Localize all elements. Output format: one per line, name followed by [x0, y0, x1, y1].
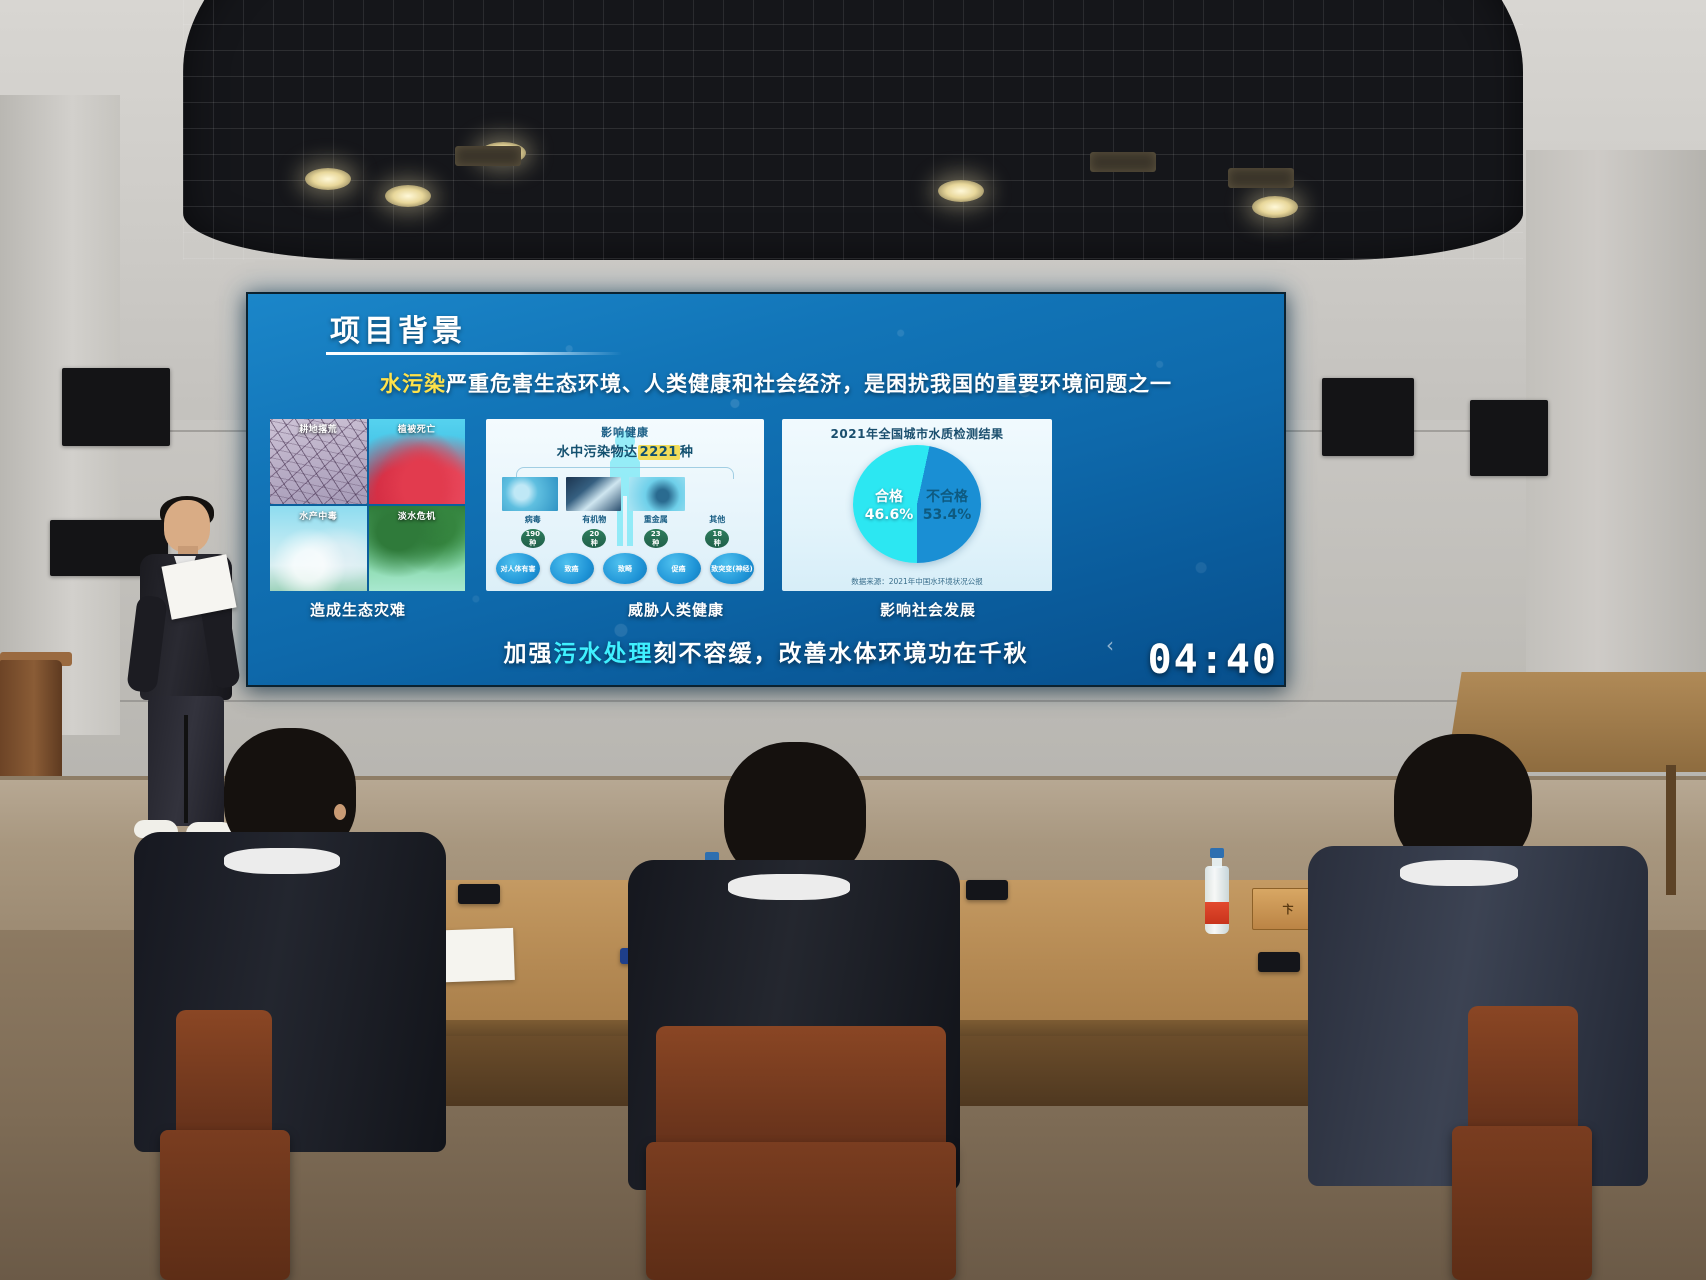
panel-heading: 影响健康 — [486, 424, 764, 440]
count-badge: 18 种 — [705, 529, 729, 548]
caption-society: 影响社会发展 — [880, 599, 976, 620]
sub-suffix: 种 — [680, 445, 694, 460]
panel-subheading: 水中污染物达2221种 — [486, 441, 764, 460]
chair-back — [656, 1026, 946, 1154]
count-value: 18 — [712, 530, 722, 539]
headline-rest: 严重危害生态环境、人类健康和社会经济，是困扰我国的重要环境问题之一 — [446, 372, 1172, 396]
count-unit: 种 — [714, 539, 721, 548]
photo-grid: 耕地撂荒 植被死亡 水产中毒 淡水危机 — [270, 419, 465, 591]
thumb-metal — [629, 477, 685, 511]
footer-part-b: 污水处理 — [554, 641, 654, 667]
chair — [1452, 1126, 1592, 1280]
section-captions: 造成生态灾难 威胁人类健康 影响社会发展 — [248, 599, 1284, 621]
effect-pill: 对人体有害 — [496, 553, 540, 584]
acoustic-panel — [1470, 400, 1548, 476]
phone-on-table — [458, 884, 500, 904]
photo-tile: 耕地撂荒 — [270, 419, 367, 504]
audience-collar — [1400, 860, 1518, 886]
effect-pill: 致癌 — [550, 553, 594, 584]
thumb-organic — [566, 477, 622, 511]
category-label: 重金属 — [625, 514, 687, 525]
countdown-timer: 04:40 — [1148, 637, 1278, 683]
chevron-left-icon[interactable]: ‹ — [1106, 633, 1114, 657]
presenter-head — [164, 500, 210, 552]
chair — [160, 1130, 290, 1280]
count-value: 23 — [651, 530, 661, 539]
photo-tile: 水产中毒 — [270, 506, 367, 591]
caption-health: 威胁人类健康 — [628, 599, 724, 620]
count-unit: 种 — [529, 539, 536, 548]
pie-chart-source: 数据来源：2021年中国水环境状况公报 — [782, 576, 1052, 587]
phone-on-table — [966, 880, 1008, 900]
ceiling-panel — [1228, 168, 1294, 188]
thumb-virus — [502, 477, 558, 511]
ceiling-light — [305, 168, 351, 190]
count-badge: 23 种 — [644, 529, 668, 548]
caption-ecology: 造成生态灾难 — [310, 599, 406, 620]
footer-part-c: 刻不容缓，改善水体环境功在千秋 — [654, 641, 1029, 667]
count-unit: 种 — [652, 539, 659, 548]
category-label: 有机物 — [564, 514, 626, 525]
category-counts: 190 种 20 种 23 种 18 种 — [502, 529, 748, 548]
count-badge: 190 种 — [521, 529, 545, 548]
audience-collar — [224, 848, 340, 874]
effect-pill: 促癌 — [657, 553, 701, 584]
photo-tile: 植被死亡 — [369, 419, 466, 504]
slide-headline: 水污染严重危害生态环境、人类健康和社会经济，是困扰我国的重要环境问题之一 — [296, 368, 1256, 398]
effect-pill: 致突变(神经) — [710, 553, 754, 584]
pie-chart-title: 2021年全国城市水质检测结果 — [782, 425, 1052, 442]
chair-back — [1468, 1006, 1578, 1136]
count-badge: 20 种 — [582, 529, 606, 548]
chair — [646, 1142, 956, 1280]
category-labels: 病毒 有机物 重金属 其他 — [502, 514, 748, 525]
acoustic-panel — [62, 368, 170, 446]
title-underline — [326, 352, 622, 355]
photo-label: 植被死亡 — [369, 422, 466, 435]
water-bottle — [1205, 848, 1229, 934]
pie-slice-pass-value: 46.6% — [861, 507, 917, 525]
slide: 项目背景 水污染严重危害生态环境、人类健康和社会经济，是困扰我国的重要环境问题之… — [248, 294, 1284, 685]
pollutant-count: 2221 — [638, 445, 680, 460]
audience-ear — [334, 804, 346, 820]
count-value: 190 — [525, 530, 540, 539]
health-impact-panel: 影响健康 水中污染物达2221种 病毒 有机物 重金属 其他 — [486, 419, 764, 591]
slide-title: 项目背景 — [330, 306, 466, 350]
ceiling-light — [1252, 196, 1298, 218]
photo-label: 水产中毒 — [270, 509, 367, 522]
category-label: 其他 — [687, 514, 749, 525]
ceiling-light — [938, 180, 984, 202]
ceiling-grid — [0, 0, 1706, 300]
led-presentation-screen[interactable]: 项目背景 水污染严重危害生态环境、人类健康和社会经济，是困扰我国的重要环境问题之… — [246, 292, 1286, 687]
ceiling-panel — [1090, 152, 1156, 172]
effect-pill: 致畸 — [603, 553, 647, 584]
pie-slice-fail-value: 53.4% — [917, 507, 977, 525]
pie-slice-pass: 合格 46.6% — [861, 489, 917, 524]
phone-on-table — [1258, 952, 1300, 972]
ceiling-panel — [455, 146, 521, 166]
pie-slice-fail-label: 不合格 — [917, 489, 977, 507]
category-label: 病毒 — [502, 514, 564, 525]
thumb-other — [693, 477, 749, 511]
pie-chart: 合格 46.6% 不合格 53.4% — [853, 445, 981, 563]
audience-collar — [728, 874, 850, 900]
headline-accent: 水污染 — [380, 372, 446, 396]
photo-tile: 淡水危机 — [369, 506, 466, 591]
category-thumbnails — [502, 477, 748, 513]
ceiling-light — [385, 185, 431, 207]
pie-slice-pass-label: 合格 — [861, 489, 917, 507]
sub-prefix: 水中污染物达 — [557, 445, 638, 460]
count-value: 20 — [589, 530, 599, 539]
slide-footer-line: 加强污水处理刻不容缓，改善水体环境功在千秋 — [248, 634, 1284, 668]
footer-part-a: 加强 — [504, 641, 554, 667]
photo-label: 淡水危机 — [369, 509, 466, 522]
acoustic-panel — [1322, 378, 1414, 456]
water-quality-pie-panel: 2021年全国城市水质检测结果 合格 46.6% 不合格 53.4% 数据来源：… — [782, 419, 1052, 591]
pie-slice-fail: 不合格 53.4% — [917, 489, 977, 524]
side-table-leg — [1666, 765, 1676, 895]
effect-pills: 对人体有害 致癌 致畸 促癌 致突变(神经) — [496, 553, 754, 584]
conference-room: 项目背景 水污染严重危害生态环境、人类健康和社会经济，是困扰我国的重要环境问题之… — [0, 0, 1706, 1280]
count-unit: 种 — [591, 539, 598, 548]
photo-label: 耕地撂荒 — [270, 422, 367, 435]
chair-back — [176, 1010, 272, 1142]
